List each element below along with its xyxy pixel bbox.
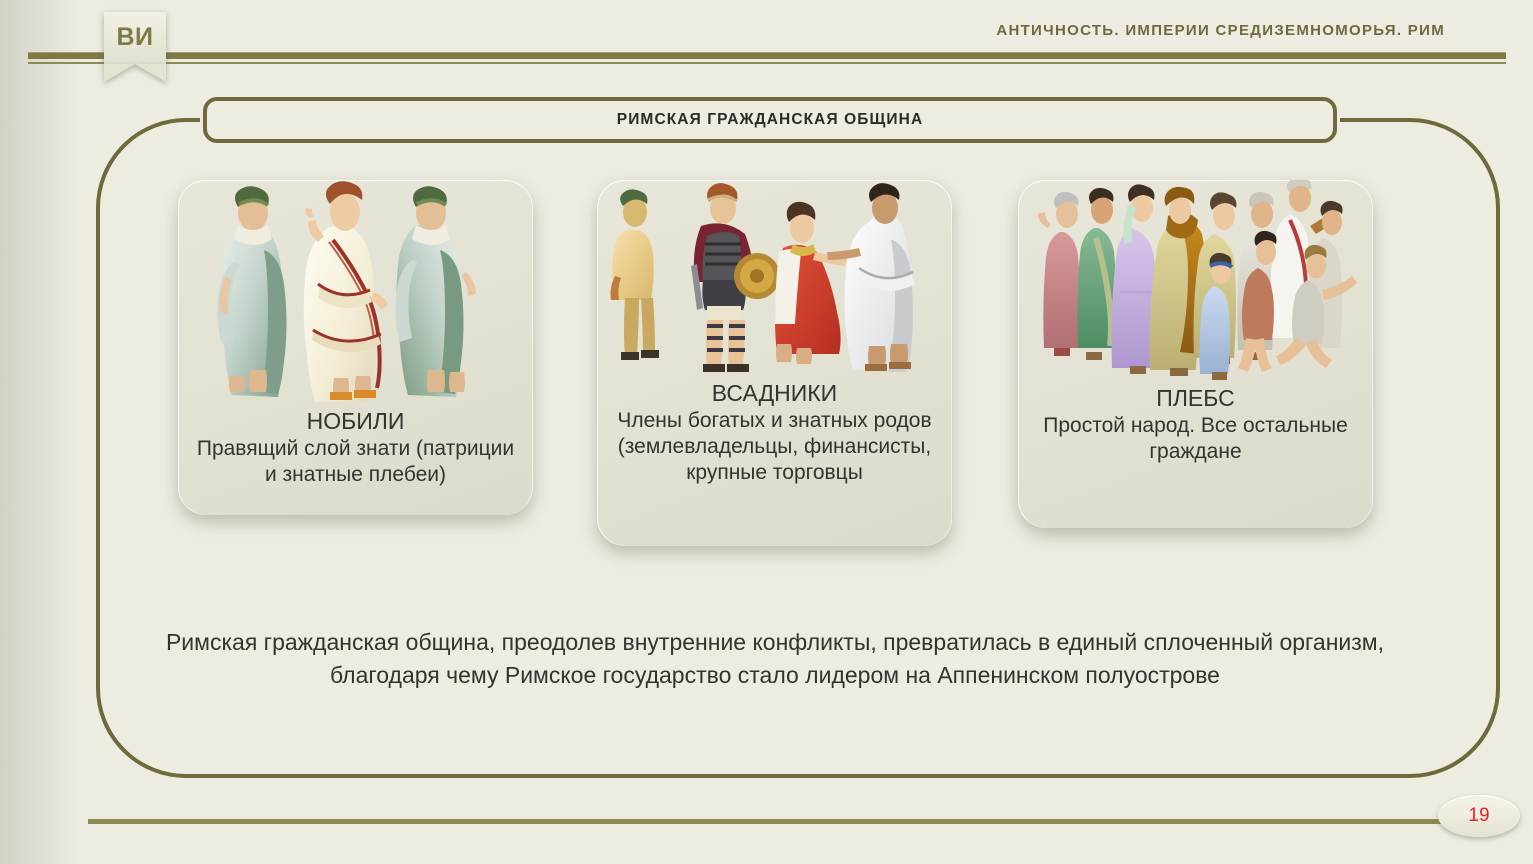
noble-left-figure (218, 186, 287, 397)
shield-point-icon (104, 64, 166, 82)
three-roman-nobles-in-togas-icon (178, 180, 533, 408)
roman-equestrians-soldier-and-patricians-icon (597, 180, 952, 380)
slide-title-text: РИМСКАЯ ГРАЖДАНСКАЯ ОБЩИНА (617, 111, 924, 129)
social-classes-card-group: НОБИЛИ Правящий слой знати (патриции и з… (0, 173, 1533, 518)
equites-illustration (597, 180, 952, 380)
conclusion-text: Римская гражданская община, преодолев вн… (150, 626, 1400, 691)
slide-canvas: ВИ АНТИЧНОСТЬ. ИМПЕРИИ СРЕДИЗЕМНОМОРЬЯ. … (0, 0, 1533, 864)
equites-caption: ВСАДНИКИ Члены богатых и знатных родов (… (597, 380, 952, 486)
plebs-title: ПЛЕБС (1032, 385, 1359, 412)
header-title: АНТИЧНОСТЬ. ИМПЕРИИ СРЕДИЗЕМНОМОРЬЯ. РИМ (996, 22, 1445, 39)
equite-yellow-tunic-figure (611, 189, 660, 360)
plebeian-old-woman-rose (1038, 192, 1080, 356)
page-number: 19 (1468, 805, 1489, 827)
footer-rule (88, 819, 1486, 824)
noble-right-figure (396, 186, 477, 397)
nobiles-illustration (178, 180, 533, 408)
nobiles-title: НОБИЛИ (192, 408, 519, 435)
slide-title-banner: РИМСКАЯ ГРАЖДАНСКАЯ ОБЩИНА (203, 97, 1337, 143)
course-badge-label: ВИ (104, 23, 166, 52)
course-badge-shield: ВИ (104, 12, 166, 64)
nobiles-caption: НОБИЛИ Правящий слой знати (патриции и з… (178, 408, 533, 488)
plebeian-man-green (1077, 188, 1116, 360)
equites-title: ВСАДНИКИ (611, 380, 938, 407)
plebs-illustration (1018, 180, 1373, 385)
card-equites[interactable]: ВСАДНИКИ Члены богатых и знатных родов (… (597, 180, 952, 546)
noble-center-figure (304, 181, 388, 402)
nobiles-description: Правящий слой знати (патриции и знатные … (192, 436, 519, 488)
equites-description: Члены богатых и знатных родов (землевлад… (611, 408, 938, 486)
page-number-badge: 19 (1438, 795, 1520, 837)
plebs-description: Простой народ. Все остальные граждане (1032, 413, 1359, 465)
card-plebs[interactable]: ПЛЕБС Простой народ. Все остальные гражд… (1018, 180, 1373, 528)
plebs-caption: ПЛЕБС Простой народ. Все остальные гражд… (1018, 385, 1373, 465)
equite-seated-woman-figure (775, 202, 847, 364)
header-rule-thick (28, 52, 1506, 59)
card-nobiles[interactable]: НОБИЛИ Правящий слой знати (патриции и з… (178, 180, 533, 515)
crowd-of-roman-plebeians-icon (1018, 180, 1373, 385)
equite-soldier-figure (691, 183, 780, 372)
header-rule-thin (28, 62, 1506, 64)
plebeian-woman-lilac (1112, 184, 1157, 374)
